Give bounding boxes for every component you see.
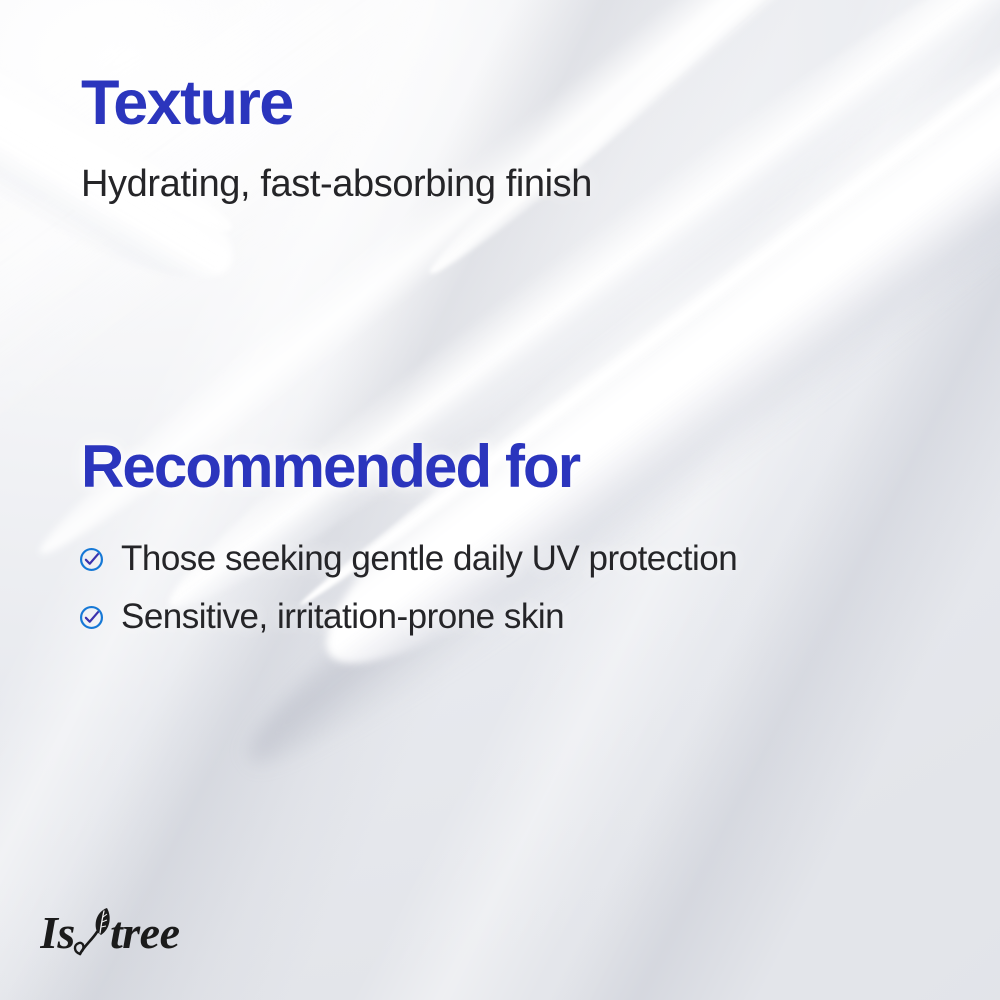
brand-logo-suffix: tree	[110, 907, 180, 958]
check-circle-icon	[79, 545, 104, 572]
list-item-label: Sensitive, irritation-prone skin	[121, 599, 564, 634]
texture-section-subtitle: Hydrating, fast-absorbing finish	[81, 162, 592, 207]
brand-logo: Is tree	[40, 902, 230, 964]
check-circle-icon	[79, 603, 104, 630]
list-item: Those seeking gentle daily UV protection	[79, 529, 737, 587]
list-item-label: Those seeking gentle daily UV protection	[121, 541, 737, 576]
leaf-icon	[75, 908, 110, 954]
recommended-list: Those seeking gentle daily UV protection…	[79, 529, 737, 645]
product-detail-card: Texture Hydrating, fast-absorbing finish…	[0, 0, 1000, 1000]
texture-section-heading: Texture	[81, 72, 293, 135]
brand-logo-prefix: Is	[40, 907, 75, 958]
content-area: Texture Hydrating, fast-absorbing finish…	[0, 0, 1000, 1000]
list-item: Sensitive, irritation-prone skin	[79, 587, 737, 645]
recommended-section-heading: Recommended for	[81, 437, 579, 497]
